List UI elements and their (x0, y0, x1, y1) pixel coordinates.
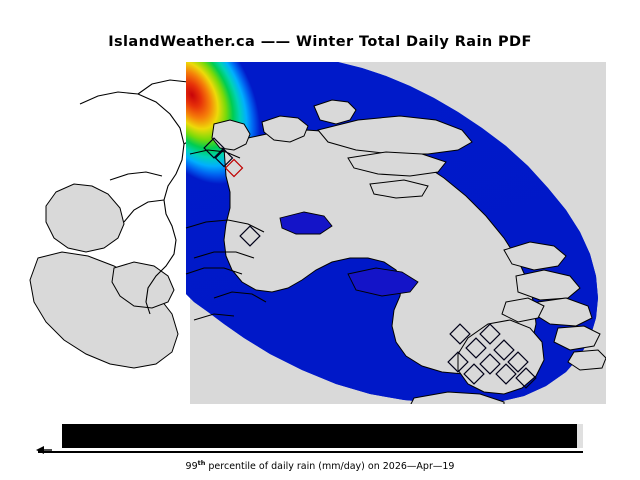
caption-prefix: 99 (186, 461, 198, 472)
map-canvas[interactable] (18, 62, 606, 406)
colorbar[interactable] (62, 424, 582, 449)
colorbar-gradient[interactable] (62, 424, 577, 448)
colorbar-caption: 99th percentile of daily rain (mm/day) o… (0, 459, 640, 472)
colorbar-baseline (38, 451, 583, 453)
caption-suffix: percentile of daily rain (mm/day) on 202… (205, 461, 454, 472)
left-arrow-icon (36, 445, 52, 455)
panel-bottom-fill (18, 404, 606, 406)
colorbar-overflow-cap (577, 424, 583, 448)
map-panel[interactable] (18, 62, 606, 406)
weather-map-figure: IslandWeather.ca —— Winter Total Daily R… (0, 0, 640, 480)
page-title: IslandWeather.ca —— Winter Total Daily R… (0, 34, 640, 50)
